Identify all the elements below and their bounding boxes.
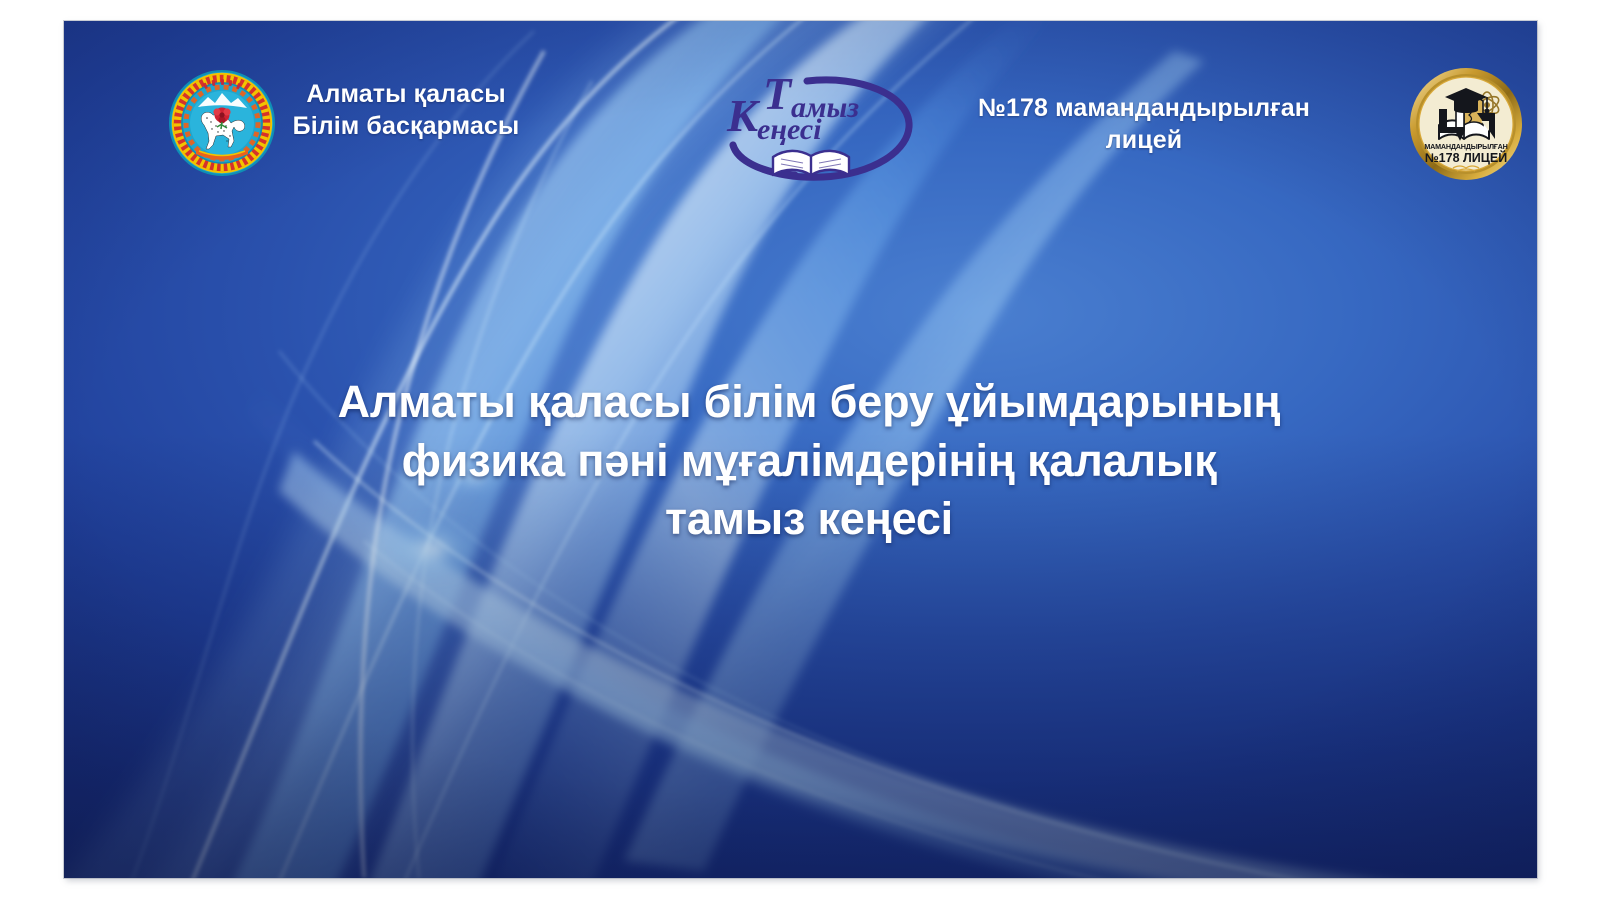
title-line-3: тамыз кеңесі xyxy=(254,490,1364,549)
svg-text:Т: Т xyxy=(763,68,793,119)
svg-text:еңесі: еңесі xyxy=(757,113,822,146)
title-line-2: физика пәні мұғалімдерінің қалалық xyxy=(254,432,1364,491)
lyceum-name-title: №178 мамандандырылған лицей xyxy=(924,93,1364,156)
lyceum-line-2: лицей xyxy=(924,125,1364,157)
lyceum-line-1: №178 мамандандырылған xyxy=(924,93,1364,125)
title-line-1: Алматы қаласы білім беру ұйымдарының xyxy=(254,373,1364,432)
tamyz-kenesi-logo-icon: К Т амыз еңесі xyxy=(711,65,923,189)
dept-line-1: Алматы қаласы xyxy=(236,79,576,111)
lyceum-emblem-main-text: №178 ЛИЦЕЙ xyxy=(1425,150,1507,165)
presentation-slide: Алматы қаласы Білім басқармасы К Т амыз … xyxy=(64,21,1537,878)
lyceum-178-emblem-icon: МАМАНДАНДЫРЫЛҒАН №178 ЛИЦЕЙ xyxy=(1409,67,1523,181)
page-title: Алматы қаласы білім беру ұйымдарының физ… xyxy=(254,373,1364,549)
education-department-title: Алматы қаласы Білім басқармасы xyxy=(236,79,576,142)
lyceum-emblem-top-text: МАМАНДАНДЫРЫЛҒАН xyxy=(1424,142,1507,151)
dept-line-2: Білім басқармасы xyxy=(236,111,576,143)
svg-text:К: К xyxy=(726,90,761,141)
